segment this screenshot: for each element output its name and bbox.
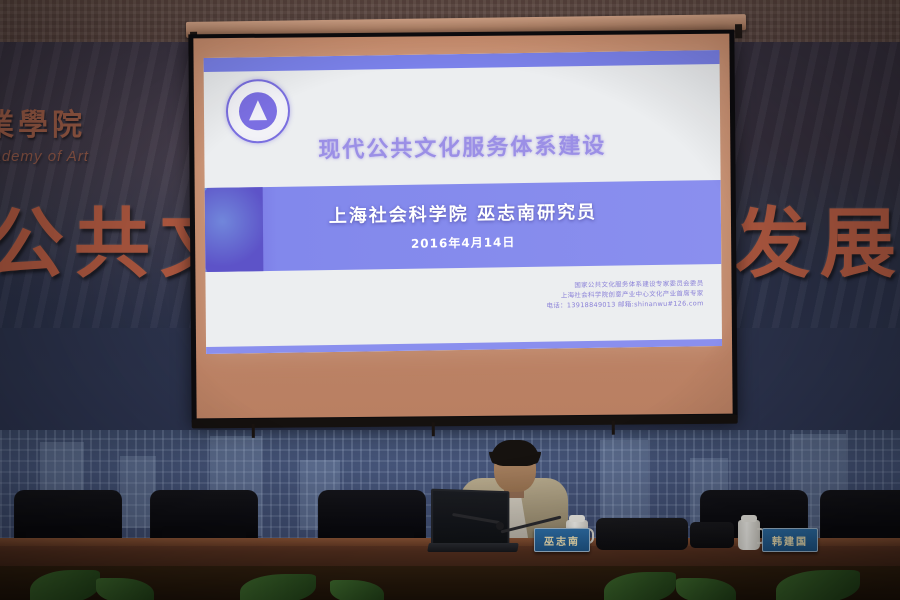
placard-speaker: 巫志南 [534, 528, 590, 552]
laptop-base [427, 543, 519, 552]
org-name-cn: 業學院 [0, 100, 134, 144]
tea-mug [738, 520, 760, 550]
photo-scene: 公共文化 与发展研 業學院 cademy of Art 现代公共文化服务体系建设… [0, 0, 900, 600]
slide-top-band [204, 50, 720, 72]
chair [14, 490, 122, 542]
chair [150, 490, 258, 542]
banner-org-logo: 業學院 cademy of Art [0, 100, 134, 165]
chair [318, 490, 426, 542]
equipment-bag-secondary [690, 522, 734, 548]
speaker-hair [491, 440, 539, 464]
presentation-slide: 现代公共文化服务体系建设 上海社会科学院 巫志南研究员 2016年4月14日 国… [204, 50, 723, 354]
slide-contact-footnotes: 国家公共文化服务体系建设专家委员会委员 上海社会科学院创意产业中心文化产业首席专… [373, 278, 703, 313]
projector-screen: 现代公共文化服务体系建设 上海社会科学院 巫志南研究员 2016年4月14日 国… [188, 30, 737, 423]
microphone-head [496, 522, 504, 530]
slide-bottom-band [206, 339, 722, 354]
placard-guest: 韩建国 [762, 528, 818, 552]
slide-title: 现代公共文化服务体系建设 [204, 126, 720, 166]
projector-screen-surface: 现代公共文化服务体系建设 上海社会科学院 巫志南研究员 2016年4月14日 国… [193, 34, 732, 419]
placard-speaker-text: 巫志南 [544, 533, 580, 548]
org-name-en: cademy of Art [0, 148, 134, 165]
equipment-bag [596, 518, 688, 550]
placard-guest-text: 韩建国 [772, 533, 808, 548]
chair [820, 490, 900, 542]
